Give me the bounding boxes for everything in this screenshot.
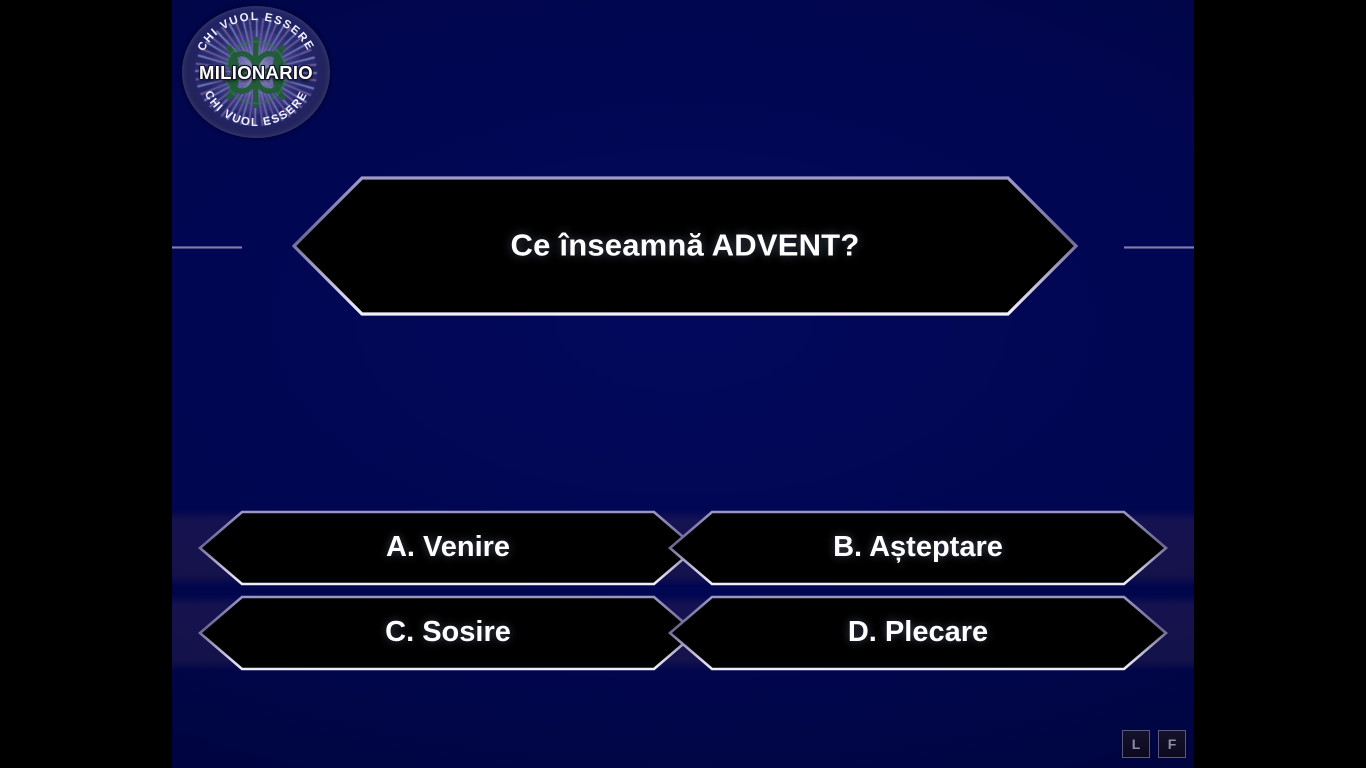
answer-option-c[interactable]: C. Sosire (198, 595, 698, 671)
answer-option-b[interactable]: B. Așteptare (668, 510, 1168, 586)
answer-c-frame (198, 595, 698, 671)
question-box: Ce înseamnă ADVENT? (292, 176, 1078, 316)
answer-d-frame (668, 595, 1168, 671)
logo-top-arc-label: CHI VUOL ESSERE (196, 11, 316, 53)
logo-arc-text: CHI VUOL ESSERE CHI VUOL ESSERE (182, 6, 330, 138)
show-logo: CHI VUOL ESSERE CHI VUOL ESSERE MILIONAR… (182, 6, 332, 140)
lifeline-button-l[interactable]: L (1122, 730, 1150, 758)
answer-a-frame (198, 510, 698, 586)
answer-option-a[interactable]: A. Venire (198, 510, 698, 586)
screen: CHI VUOL ESSERE CHI VUOL ESSERE MILIONAR… (0, 0, 1366, 768)
answer-b-frame (668, 510, 1168, 586)
answer-option-d[interactable]: D. Plecare (668, 595, 1168, 671)
answer-row-2: C. Sosire D. Plecare (172, 595, 1194, 671)
answer-row-1: A. Venire B. Așteptare (172, 510, 1194, 586)
game-viewport: CHI VUOL ESSERE CHI VUOL ESSERE MILIONAR… (172, 0, 1194, 768)
lifeline-button-f[interactable]: F (1158, 730, 1186, 758)
logo-badge: CHI VUOL ESSERE CHI VUOL ESSERE MILIONAR… (182, 6, 330, 138)
logo-bottom-arc-label: CHI VUOL ESSERE (202, 89, 311, 129)
question-box-frame (292, 176, 1078, 316)
question-rail-left (172, 246, 242, 249)
lifeline-bar: L F (1122, 730, 1186, 758)
question-rail-right (1124, 246, 1194, 249)
